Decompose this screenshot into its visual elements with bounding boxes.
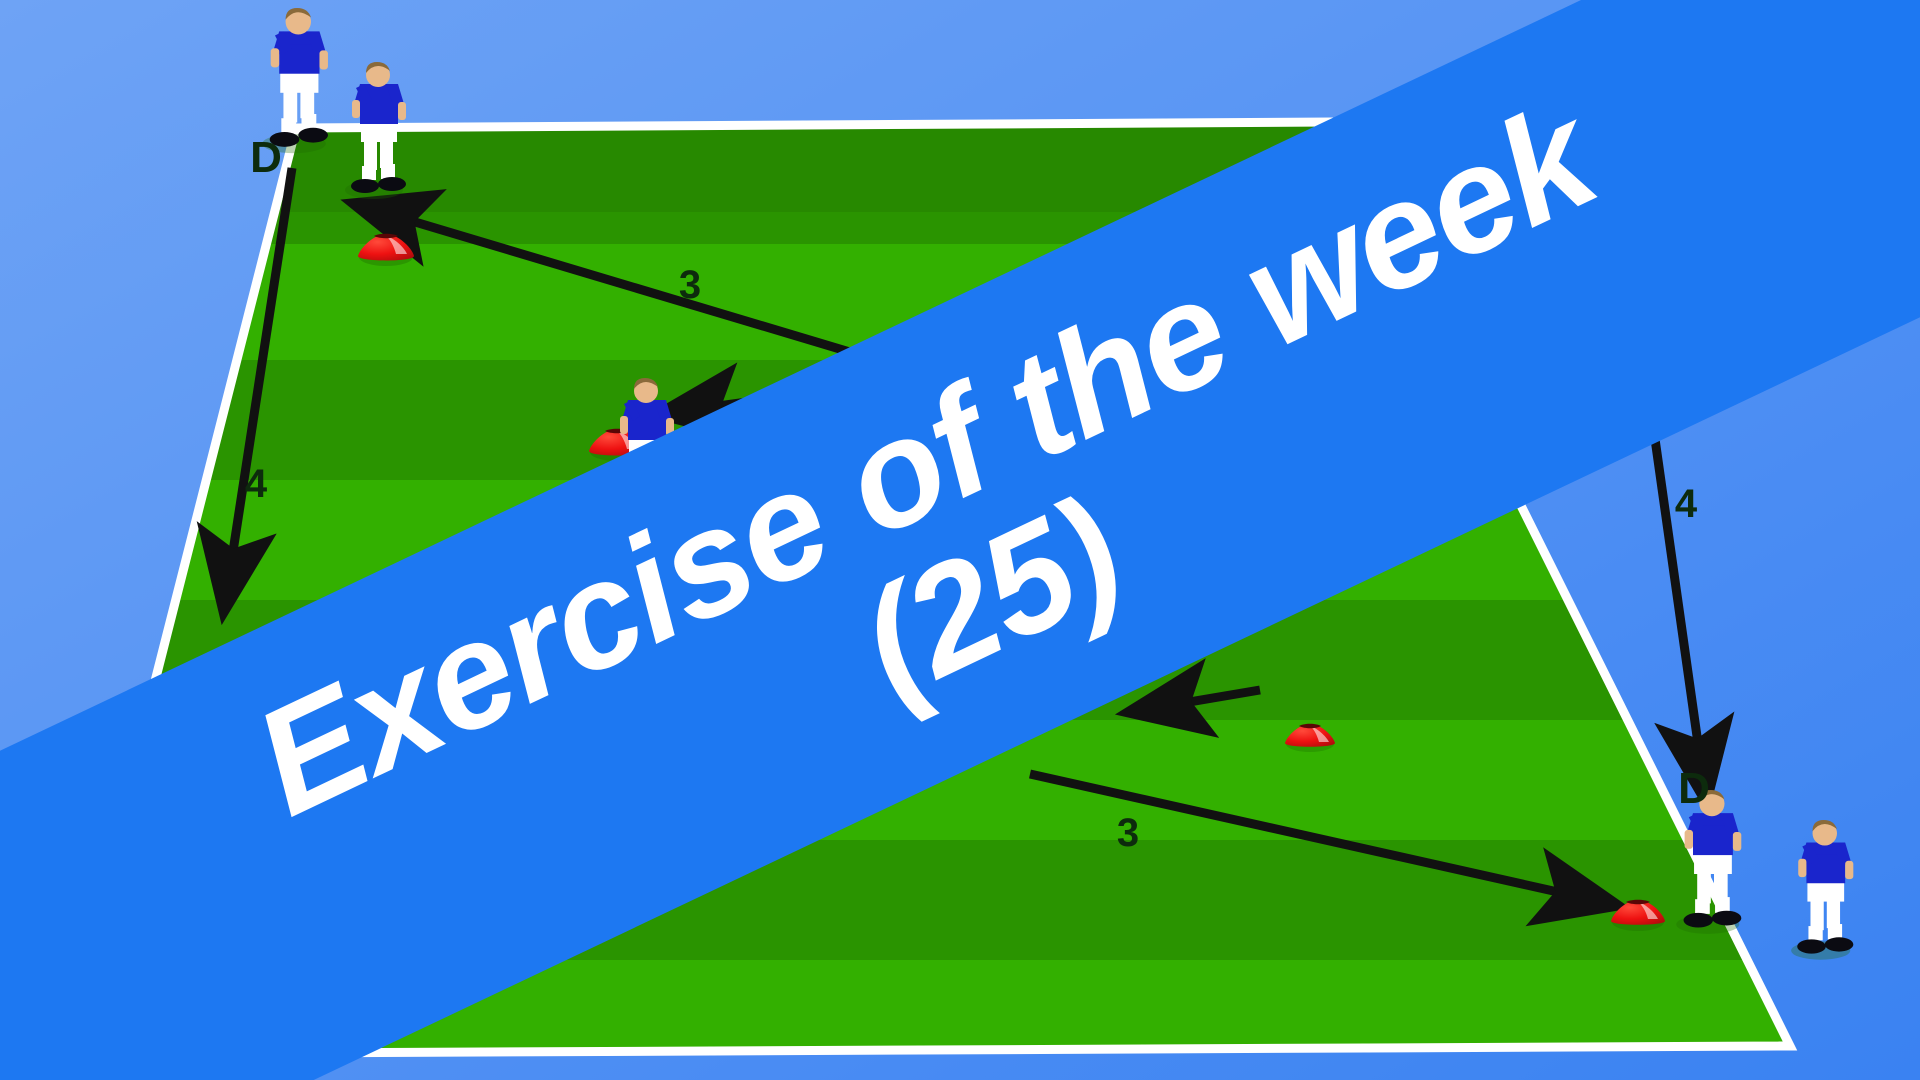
d-label-top-left: D — [250, 133, 282, 182]
pass-label-bottom: 3 — [1117, 811, 1139, 855]
run-label-right: 4 — [1675, 482, 1698, 526]
d-label-bottom-right: D — [1678, 764, 1710, 813]
training-diagram-canvas: D D 4 4 3 3 Exercise of the week (25) — [0, 0, 1920, 1080]
pass-label-top: 3 — [679, 263, 701, 307]
run-label-left: 4 — [245, 462, 268, 506]
